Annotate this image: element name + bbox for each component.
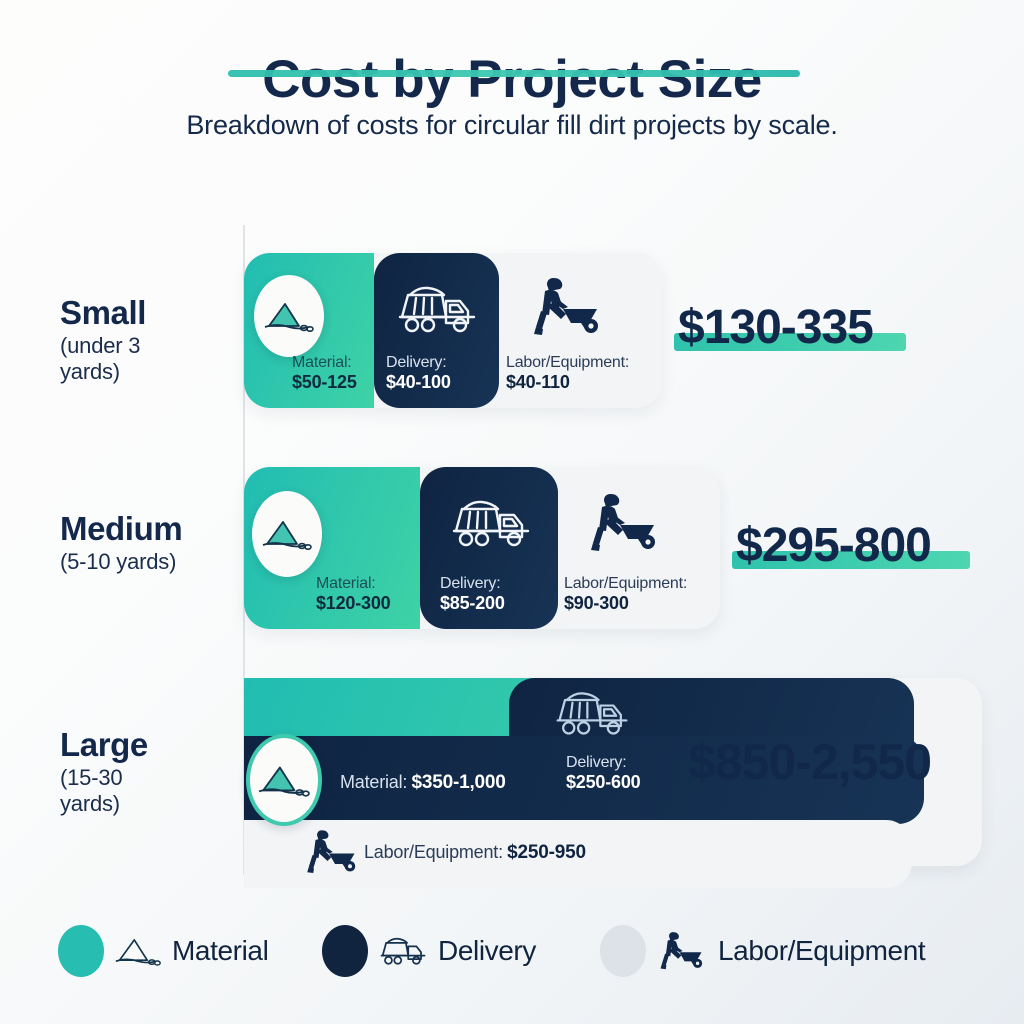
segment-category: Labor/Equipment: — [506, 354, 629, 372]
total-text: $295-800 — [736, 519, 931, 572]
segment-value: $40-100 — [386, 372, 451, 392]
dump-truck-icon — [378, 932, 428, 970]
segment-category: Material: — [340, 772, 407, 792]
legend-label: Material — [172, 935, 268, 967]
segment-value: $350-1,000 — [411, 772, 505, 793]
row-name: Large — [60, 728, 148, 763]
segment-text-labor-small: Labor/Equipment: $40-110 — [506, 354, 629, 392]
total-label-large: $850-2,550 — [688, 733, 931, 791]
row-label-small: Small (under 3 yards) — [60, 296, 146, 385]
segment-value: $85-200 — [440, 593, 505, 613]
segment-category: Material: — [292, 354, 357, 372]
legend-swatch-labor — [600, 925, 646, 977]
segment-category: Delivery: — [566, 754, 640, 772]
total-text: $130-335 — [678, 301, 873, 354]
legend-swatch-delivery — [322, 925, 368, 977]
total-label-small: $130-335 — [678, 300, 873, 355]
dirt-pile-icon — [261, 514, 313, 554]
row-range: (under 3 yards) — [60, 333, 146, 385]
material-pile-badge — [252, 491, 322, 577]
legend-swatch-material — [58, 925, 104, 977]
chart-plot-area: Small (under 3 yards) — [0, 0, 1024, 1024]
material-pile-badge — [246, 734, 322, 826]
legend-label: Delivery — [438, 935, 536, 967]
legend-item-labor[interactable]: Labor/Equipment — [600, 925, 925, 977]
row-range: (5-10 yards) — [60, 549, 182, 575]
segment-value: $250-600 — [566, 772, 640, 792]
segment-category: Labor/Equipment: — [564, 575, 687, 593]
segment-text-material-small: Material: $50-125 — [292, 354, 357, 392]
segment-value: $90-300 — [564, 593, 687, 613]
stacked-bar-medium[interactable]: Material: $120-300 Delivery: $85-200 Lab… — [244, 467, 720, 629]
segment-value: $120-300 — [316, 593, 390, 613]
stacked-bar-small[interactable]: Material: $50-125 Delivery: $40-100 Labo… — [244, 253, 662, 408]
legend-label: Labor/Equipment — [718, 935, 925, 967]
segment-text-delivery-medium: Delivery: $85-200 — [440, 575, 505, 613]
segment-value: $250-950 — [507, 842, 586, 863]
segment-value: $50-125 — [292, 372, 357, 392]
total-text: $850-2,550 — [688, 734, 931, 790]
legend-item-material[interactable]: Material — [58, 925, 268, 977]
material-pile-badge — [254, 275, 324, 357]
segment-category: Delivery: — [440, 575, 505, 593]
total-label-medium: $295-800 — [736, 518, 931, 573]
row-name: Medium — [60, 512, 182, 547]
row-name: Small — [60, 296, 146, 331]
segment-text-labor-medium: Labor/Equipment: $90-300 — [564, 575, 687, 613]
chart-legend: Material Delivery — [0, 905, 1024, 995]
dirt-pile-icon — [263, 296, 315, 336]
segment-text-delivery-small: Delivery: $40-100 — [386, 354, 451, 392]
segment-text-material-large: Material: $350-1,000 — [340, 772, 506, 793]
row-label-large: Large (15-30 yards) — [60, 728, 148, 817]
row-label-medium: Medium (5-10 yards) — [60, 512, 182, 575]
row-range: (15-30 yards) — [60, 765, 148, 817]
dirt-pile-icon — [257, 759, 311, 801]
wheelbarrow-worker-icon — [656, 930, 708, 972]
segment-text-material-medium: Material: $120-300 — [316, 575, 390, 613]
segment-category: Delivery: — [386, 354, 451, 372]
segment-category: Material: — [316, 575, 390, 593]
segment-text-delivery-large: Delivery: $250-600 — [566, 754, 640, 792]
dirt-pile-icon — [114, 932, 162, 970]
segment-text-labor-large: Labor/Equipment: $250-950 — [364, 842, 586, 863]
segment-category: Labor/Equipment: — [364, 842, 503, 862]
segment-value: $40-110 — [506, 372, 629, 392]
legend-item-delivery[interactable]: Delivery — [322, 925, 536, 977]
